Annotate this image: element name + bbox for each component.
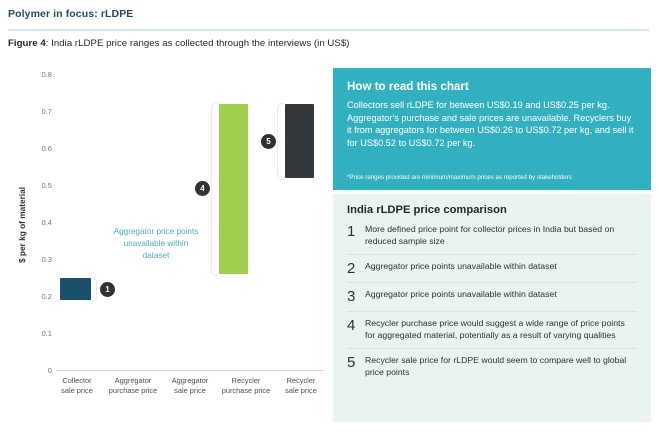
list-item: 4 Recycler purchase price would suggest … (347, 311, 637, 348)
x-label-aggregator-sale-price: Aggregator sale price (162, 376, 218, 396)
x-axis-line (56, 370, 324, 371)
x-label-line1: Aggregator (162, 376, 218, 386)
x-label-line2: sale price (275, 386, 327, 396)
list-item: 1 More defined price point for collector… (347, 220, 637, 254)
y-tick-0.5: 0.5 (26, 181, 52, 190)
y-tick-0.4: 0.4 (26, 218, 52, 227)
list-item-number: 3 (347, 289, 365, 305)
plot-area: 1 Aggregator price points unavailable wi… (56, 74, 324, 370)
section-kicker: Polymer in focus: rLDPE (8, 8, 133, 20)
list-item-text: Recycler purchase price would suggest a … (365, 318, 637, 342)
list-item: 5 Recycler sale price for rLDPE would se… (347, 348, 637, 385)
y-tick-0.2: 0.2 (26, 292, 52, 301)
y-tick-0: 0 (26, 366, 52, 375)
list-item-text: Recycler sale price for rLDPE would seem… (365, 355, 637, 379)
y-tick-0.3: 0.3 (26, 255, 52, 264)
how-to-read-body: Collectors sell rLDPE for between US$0.1… (347, 99, 637, 150)
list-item-number: 1 (347, 224, 365, 240)
how-to-read-panel: How to read this chart Collectors sell r… (333, 68, 651, 190)
range-bracket-recycler-purchase (211, 103, 218, 276)
figure-page: Polymer in focus: rLDPE Figure 4: India … (0, 0, 657, 432)
x-label-line2: sale price (162, 386, 218, 396)
list-item-text: Aggregator price points unavailable with… (365, 261, 557, 273)
list-item-text: Aggregator price points unavailable with… (365, 289, 557, 301)
header-divider (8, 29, 649, 31)
x-label-line2: purchase price (104, 386, 162, 396)
x-label-line1: Recycler (217, 376, 275, 386)
chart-marker-1[interactable]: 1 (100, 282, 115, 297)
bar-recycler-purchase-price[interactable] (219, 104, 248, 274)
list-item-text: More defined price point for collector p… (365, 224, 637, 248)
chart: $ per kg of material 0.8 0.7 0.6 0.5 0.4… (0, 70, 330, 415)
x-label-aggregator-purchase-price: Aggregator purchase price (104, 376, 162, 396)
y-tick-0.7: 0.7 (26, 107, 52, 116)
bar-recycler-sale-price[interactable] (285, 104, 314, 178)
x-label-line1: Recycler (275, 376, 327, 386)
x-label-line2: purchase price (217, 386, 275, 396)
y-tick-0.1: 0.1 (26, 329, 52, 338)
list-item: 2 Aggregator price points unavailable wi… (347, 254, 637, 283)
y-tick-0.6: 0.6 (26, 144, 52, 153)
how-to-read-footnote: *Price ranges provided are minimum/maxim… (347, 174, 572, 181)
range-bracket-collector (92, 277, 97, 302)
x-label-recycler-purchase-price: Recycler purchase price (217, 376, 275, 396)
list-item-number: 5 (347, 355, 365, 371)
x-label-collector-sale-price: Collector sale price (50, 376, 104, 396)
aggregator-unavailable-note: Aggregator price points unavailable with… (110, 226, 202, 262)
bar-collector-sale-price[interactable] (60, 278, 91, 300)
list-item: 3 Aggregator price points unavailable wi… (347, 282, 637, 311)
list-item-number: 4 (347, 318, 365, 334)
figure-caption-text: : India rLDPE price ranges as collected … (46, 38, 350, 49)
how-to-read-title: How to read this chart (347, 80, 637, 93)
price-comparison-title: India rLDPE price comparison (347, 204, 637, 216)
y-tick-0.8: 0.8 (26, 70, 52, 79)
chart-marker-5[interactable]: 5 (261, 134, 276, 149)
x-label-line2: sale price (50, 386, 104, 396)
x-label-recycler-sale-price: Recycler sale price (275, 376, 327, 396)
range-bracket-recycler-sale (277, 103, 284, 180)
list-item-number: 2 (347, 261, 365, 277)
figure-caption: Figure 4: India rLDPE price ranges as co… (8, 38, 350, 49)
price-comparison-panel: India rLDPE price comparison 1 More defi… (333, 194, 651, 422)
chart-marker-4[interactable]: 4 (195, 181, 210, 196)
x-label-line1: Aggregator (104, 376, 162, 386)
x-label-line1: Collector (50, 376, 104, 386)
figure-caption-label: Figure 4 (8, 38, 46, 49)
